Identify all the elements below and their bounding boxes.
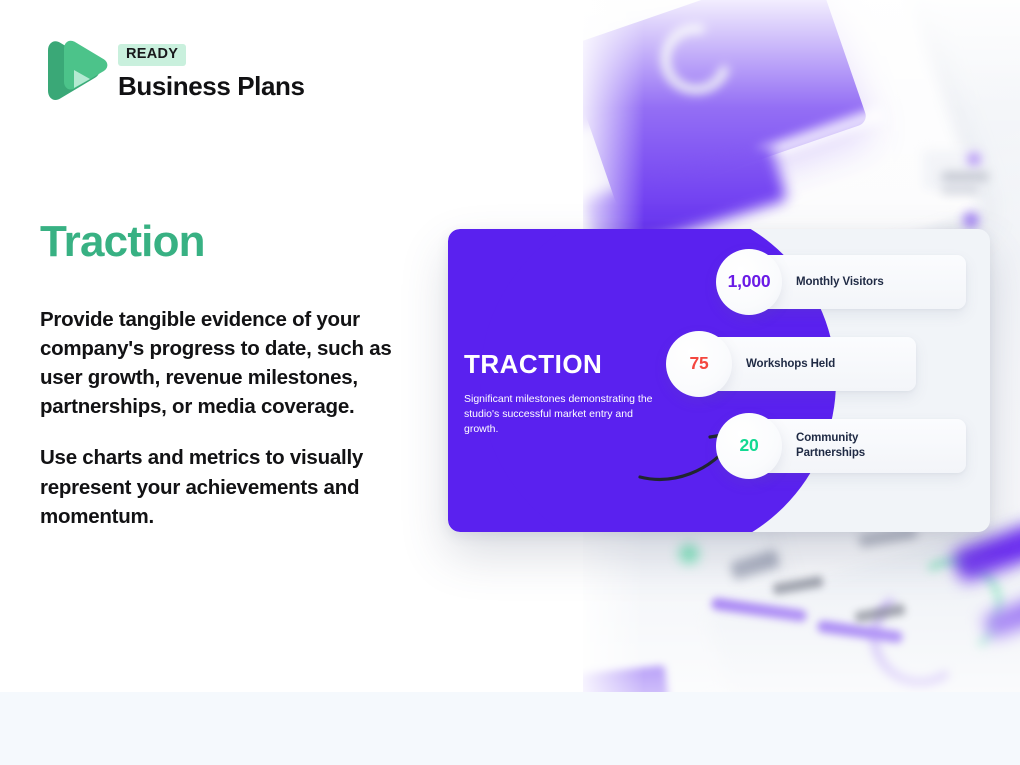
- background-donut-mint: [896, 549, 1012, 665]
- description-paragraph-1: Provide tangible evidence of your compan…: [40, 305, 430, 421]
- slide-preview-page: READY Business Plans Traction Provide ta…: [0, 0, 1020, 765]
- metric-list: 1,000 Monthly Visitors 75 Workshops Held…: [716, 255, 980, 475]
- metric-row[interactable]: 75 Workshops Held: [666, 337, 930, 393]
- panel-bottom-fade: [583, 552, 1020, 692]
- slide-subtitle: Significant milestones demonstrating the…: [464, 392, 659, 437]
- background-slide-5-bar: [729, 549, 780, 580]
- background-slide-3-purple: [583, 0, 868, 209]
- metric-row[interactable]: 20 Community Partnerships: [716, 419, 980, 475]
- background-low-text-1: [772, 576, 823, 596]
- background-slide-1-bar: [583, 52, 704, 160]
- background-chip-card: [923, 150, 983, 190]
- background-purple-strip: [583, 665, 669, 692]
- metric-circle: 1,000: [716, 249, 782, 315]
- slide-card[interactable]: TRACTION Significant milestones demonstr…: [448, 229, 990, 532]
- brand-logo[interactable]: READY Business Plans: [40, 36, 305, 108]
- metric-value: 1,000: [728, 273, 771, 291]
- background-chip-dot: [967, 152, 981, 166]
- bottom-band: [0, 692, 1020, 765]
- metric-value: 75: [689, 355, 708, 373]
- play-triangle-logo-icon: [40, 36, 108, 108]
- metric-value: 20: [739, 437, 758, 455]
- metric-label: Workshops Held: [746, 337, 866, 391]
- background-chip-line-1: [941, 172, 989, 181]
- background-slide-1: [583, 0, 778, 236]
- background-chip-line-2: [941, 186, 979, 194]
- background-donut-purple: [865, 582, 976, 692]
- metric-circle: 75: [666, 331, 732, 397]
- brand-logo-text: READY Business Plans: [118, 42, 305, 101]
- metric-label: Community Partnerships: [796, 419, 916, 473]
- description-paragraph-2: Use charts and metrics to visually repre…: [40, 443, 430, 530]
- page-description: Provide tangible evidence of your compan…: [40, 305, 430, 531]
- page-title: Traction: [40, 218, 205, 266]
- background-low-bar-2: [817, 620, 904, 644]
- metric-row[interactable]: 1,000 Monthly Visitors: [716, 255, 980, 311]
- background-purple-edge-2: [982, 593, 1020, 641]
- brand-name: Business Plans: [118, 72, 305, 102]
- ready-badge: READY: [118, 44, 186, 66]
- background-slide-3-title: [758, 105, 886, 163]
- background-ring-shape: [648, 11, 744, 107]
- background-slide-6: [705, 507, 1020, 692]
- background-low-text-2: [854, 604, 905, 624]
- background-slide-3-lines: [719, 125, 902, 231]
- slide-heading: TRACTION: [464, 351, 602, 377]
- background-chip-dot-2: [963, 212, 979, 228]
- metric-circle: 20: [716, 413, 782, 479]
- background-low-bar-1: [711, 597, 808, 622]
- metric-label: Monthly Visitors: [796, 255, 916, 309]
- background-mint-dot: [679, 544, 699, 564]
